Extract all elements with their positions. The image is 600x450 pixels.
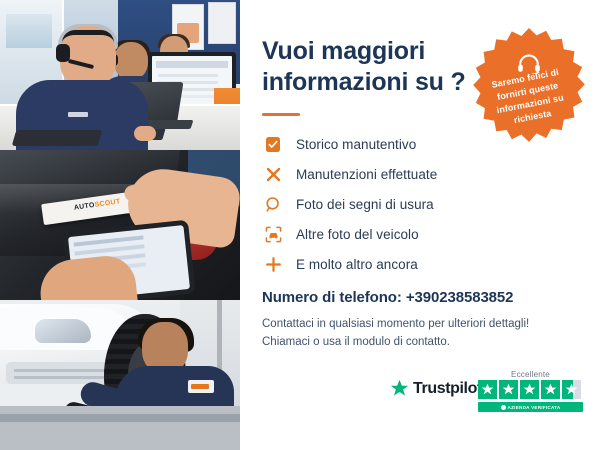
trustpilot-star-icon (390, 379, 409, 398)
plus-icon (262, 254, 284, 274)
trustpilot-rating-label: Eccellente (478, 370, 583, 379)
crossed-tools-icon (262, 164, 284, 184)
list-item-label: Storico manutentivo (296, 137, 416, 152)
list-item-label: Altre foto del veicolo (296, 227, 419, 242)
workshop-floor (0, 406, 240, 450)
trustpilot-wordmark: Trustpilot (413, 380, 482, 398)
promo-badge: Saremo felici di fornirti queste informa… (470, 26, 588, 144)
trustpilot-widget[interactable]: Trustpilot Eccellente AZIENDA VERIFICATA (390, 370, 585, 414)
content-panel: Vuoi maggiori informazioni su ? Saremo f… (240, 0, 600, 450)
photo-call-center (0, 0, 240, 150)
advertisement-card: AUTOSCOUT (0, 0, 600, 450)
list-item-label: Manutenzioni effettuate (296, 167, 437, 182)
desk-tray (12, 130, 103, 146)
star-filled (478, 380, 497, 399)
list-item: Storico manutentivo (262, 130, 512, 158)
strip-brand-text: AUTOSCOUT (73, 198, 120, 211)
list-item-label: E molto altro ancora (296, 257, 418, 272)
phone-number[interactable]: +390238583852 (406, 289, 514, 306)
contact-note-line-1: Contattaci in qualsiasi momento per ulte… (262, 316, 562, 334)
verified-check-icon (501, 405, 506, 410)
star-filled (499, 380, 518, 399)
list-item: E molto altro ancora (262, 250, 512, 278)
photo-mechanic-wheel (0, 300, 240, 450)
trustpilot-logo: Trustpilot (390, 379, 482, 398)
verified-company-badge: AZIENDA VERIFICATA (478, 402, 583, 412)
star-filled (541, 380, 560, 399)
star-filled (520, 380, 539, 399)
page-title: Vuoi maggiori informazioni su ? (262, 36, 472, 97)
poster-decor-2 (208, 2, 236, 44)
clipboard-check-icon (262, 134, 284, 154)
magnifier-icon (262, 194, 284, 214)
list-item: Manutenzioni effettuate (262, 160, 512, 188)
contact-note-line-2: Chiamaci o usa il modulo di contatto. (262, 334, 562, 352)
verified-company-label: AZIENDA VERIFICATA (508, 405, 561, 410)
page-title-line-1: Vuoi maggiori (262, 36, 472, 67)
feature-list: Storico manutentivo Manutenzioni effettu… (262, 130, 512, 280)
list-item: Altre foto del veicolo (262, 220, 512, 248)
phone-line: Numero di telefono: +390238583852 (262, 289, 513, 306)
trustpilot-stars (478, 380, 581, 399)
title-underline (262, 113, 300, 116)
car-scan-icon (262, 224, 284, 244)
star-partial (562, 380, 581, 399)
phone-label: Numero di telefono: (262, 289, 402, 306)
contact-note: Contattaci in qualsiasi momento per ulte… (262, 316, 562, 352)
photo-inspection-strip: AUTOSCOUT (0, 150, 240, 300)
car-headlight (34, 318, 92, 344)
photo-column: AUTOSCOUT (0, 0, 240, 450)
list-item-label: Foto dei segni di usura (296, 197, 434, 212)
page-title-line-2: informazioni su ? (262, 67, 472, 98)
list-item: Foto dei segni di usura (262, 190, 512, 218)
